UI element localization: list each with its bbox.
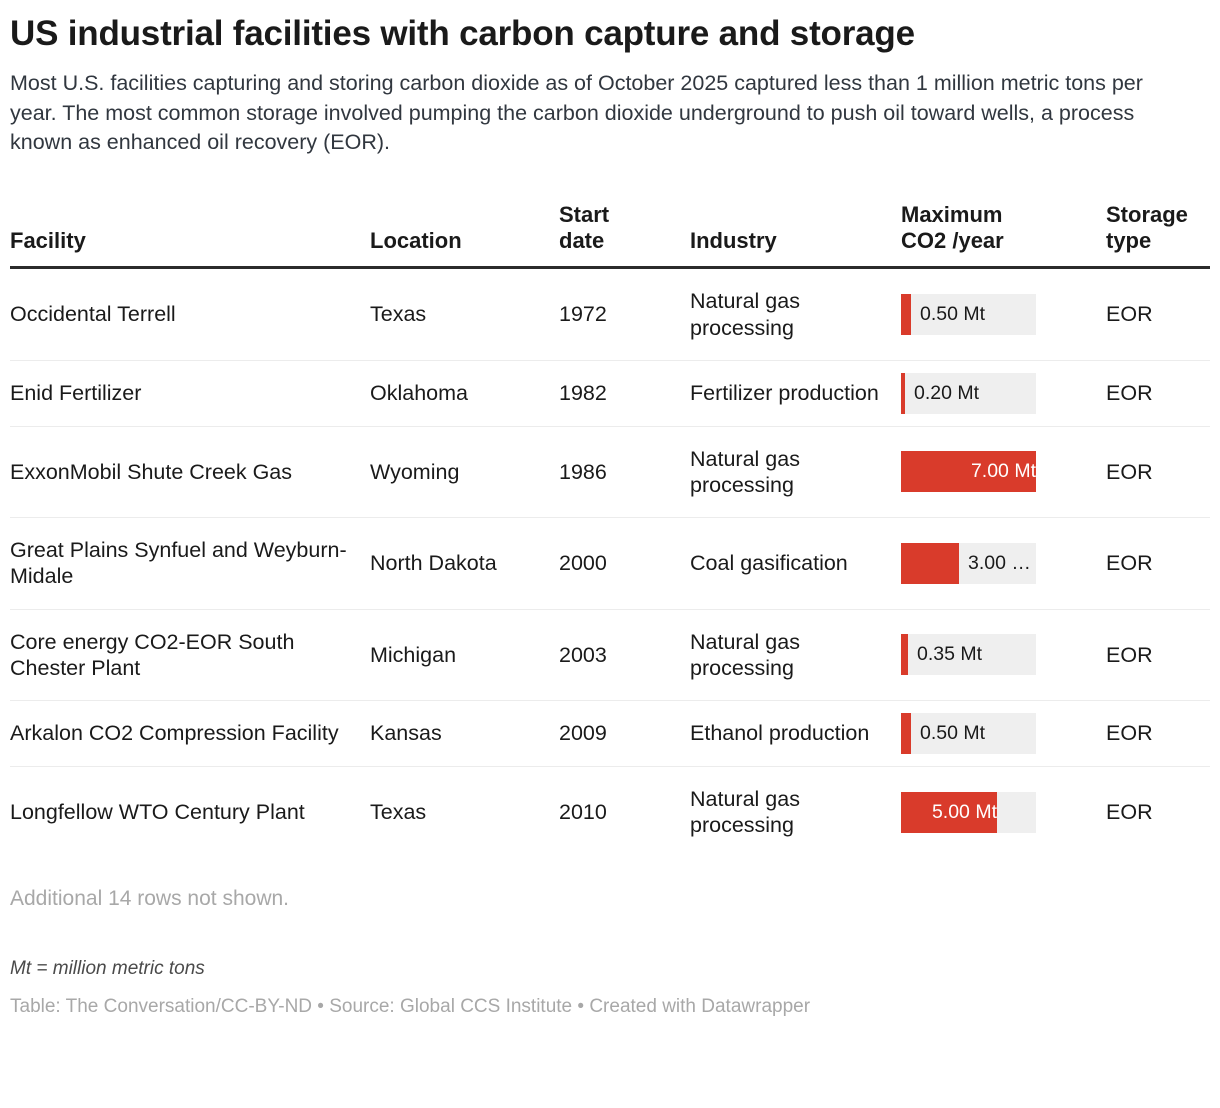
cell-start-date: 1986 [559, 426, 690, 517]
bar-fill [901, 294, 911, 335]
cell-industry: Natural gas processing [690, 426, 901, 517]
cell-industry: Coal gasification [690, 518, 901, 609]
cell-max-co2: 7.00 Mt [901, 426, 1106, 517]
column-header-industry[interactable]: Industry [690, 202, 901, 268]
table-row: Occidental TerrellTexas1972Natural gas p… [10, 268, 1210, 360]
cell-max-co2: 3.00 … [901, 518, 1106, 609]
table-row: Longfellow WTO Century PlantTexas2010Nat… [10, 767, 1210, 858]
bar-track: 3.00 … [901, 543, 1036, 584]
cell-location: North Dakota [370, 518, 559, 609]
bar-value-label: 0.50 Mt [911, 713, 1036, 754]
bar-track: 0.35 Mt [901, 634, 1036, 675]
cell-industry: Fertilizer production [690, 360, 901, 426]
cell-industry: Ethanol production [690, 701, 901, 767]
cell-storage-type: EOR [1106, 609, 1210, 700]
cell-location: Kansas [370, 701, 559, 767]
page-title: US industrial facilities with carbon cap… [10, 14, 1210, 53]
bar-track: 0.50 Mt [901, 294, 1036, 335]
table-header-row: Facility Location Start date Industry Ma… [10, 202, 1210, 268]
datawrapper-table-chart: US industrial facilities with carbon cap… [0, 14, 1220, 1108]
cell-facility: Occidental Terrell [10, 268, 370, 360]
cell-max-co2: 0.50 Mt [901, 701, 1106, 767]
bar-fill [901, 713, 911, 754]
cell-industry: Natural gas processing [690, 767, 901, 858]
cell-start-date: 2010 [559, 767, 690, 858]
unit-note: Mt = million metric tons [10, 958, 1210, 981]
cell-facility: Enid Fertilizer [10, 360, 370, 426]
cell-facility: Arkalon CO2 Compression Facility [10, 701, 370, 767]
column-header-max-co2-line1: Maximum [901, 202, 1002, 227]
cell-facility: ExxonMobil Shute Creek Gas [10, 426, 370, 517]
facilities-table: Facility Location Start date Industry Ma… [10, 202, 1210, 858]
column-header-max-co2-line2: CO2 /year [901, 228, 1004, 253]
cell-location: Wyoming [370, 426, 559, 517]
cell-storage-type: EOR [1106, 360, 1210, 426]
table-row: Enid FertilizerOklahoma1982Fertilizer pr… [10, 360, 1210, 426]
cell-industry: Natural gas processing [690, 609, 901, 700]
table-row: Arkalon CO2 Compression FacilityKansas20… [10, 701, 1210, 767]
cell-storage-type: EOR [1106, 767, 1210, 858]
cell-industry: Natural gas processing [690, 268, 901, 360]
cell-facility: Great Plains Synfuel and Weyburn-Midale [10, 518, 370, 609]
table-row: ExxonMobil Shute Creek GasWyoming1986Nat… [10, 426, 1210, 517]
table-container: Facility Location Start date Industry Ma… [10, 202, 1210, 858]
cell-storage-type: EOR [1106, 701, 1210, 767]
cell-start-date: 2003 [559, 609, 690, 700]
column-header-facility[interactable]: Facility [10, 202, 370, 268]
column-header-location[interactable]: Location [370, 202, 559, 268]
cell-location: Oklahoma [370, 360, 559, 426]
bar-value-label: 3.00 … [959, 543, 1036, 584]
table-body: Occidental TerrellTexas1972Natural gas p… [10, 268, 1210, 858]
bar-track: 0.20 Mt [901, 373, 1036, 414]
bar-track: 7.00 Mt [901, 451, 1036, 492]
bar-fill [901, 634, 908, 675]
table-row: Core energy CO2-EOR South Chester PlantM… [10, 609, 1210, 700]
source-credit: Table: The Conversation/CC-BY-ND • Sourc… [10, 995, 1210, 1019]
table-row: Great Plains Synfuel and Weyburn-MidaleN… [10, 518, 1210, 609]
cell-facility: Longfellow WTO Century Plant [10, 767, 370, 858]
rows-not-shown-note: Additional 14 rows not shown. [10, 886, 1210, 911]
column-header-start-date-line1: Start [559, 202, 609, 227]
column-header-start-date-line2: date [559, 228, 604, 253]
cell-start-date: 2000 [559, 518, 690, 609]
bar-fill [901, 543, 959, 584]
bar-track: 5.00 Mt [901, 792, 1036, 833]
cell-location: Texas [370, 767, 559, 858]
bar-value-label: 0.50 Mt [911, 294, 1036, 335]
cell-max-co2: 0.35 Mt [901, 609, 1106, 700]
page-subtitle: Most U.S. facilities capturing and stori… [10, 69, 1175, 157]
cell-storage-type: EOR [1106, 268, 1210, 360]
column-header-storage-type[interactable]: Storage type [1106, 202, 1210, 268]
cell-max-co2: 0.20 Mt [901, 360, 1106, 426]
column-header-start-date[interactable]: Start date [559, 202, 690, 268]
column-header-storage-type-line2: type [1106, 228, 1151, 253]
bar-value-label: 0.35 Mt [908, 634, 1036, 675]
table-header: Facility Location Start date Industry Ma… [10, 202, 1210, 268]
cell-start-date: 1972 [559, 268, 690, 360]
bar-track: 0.50 Mt [901, 713, 1036, 754]
cell-location: Texas [370, 268, 559, 360]
column-header-max-co2[interactable]: Maximum CO2 /year [901, 202, 1106, 268]
cell-max-co2: 5.00 Mt [901, 767, 1106, 858]
cell-start-date: 1982 [559, 360, 690, 426]
bar-value-label: 5.00 Mt [901, 792, 1005, 833]
cell-storage-type: EOR [1106, 518, 1210, 609]
cell-storage-type: EOR [1106, 426, 1210, 517]
cell-location: Michigan [370, 609, 559, 700]
cell-max-co2: 0.50 Mt [901, 268, 1106, 360]
bar-value-label: 0.20 Mt [905, 373, 1036, 414]
cell-start-date: 2009 [559, 701, 690, 767]
bar-value-label: 7.00 Mt [901, 451, 1036, 492]
column-header-storage-type-line1: Storage [1106, 202, 1188, 227]
cell-facility: Core energy CO2-EOR South Chester Plant [10, 609, 370, 700]
